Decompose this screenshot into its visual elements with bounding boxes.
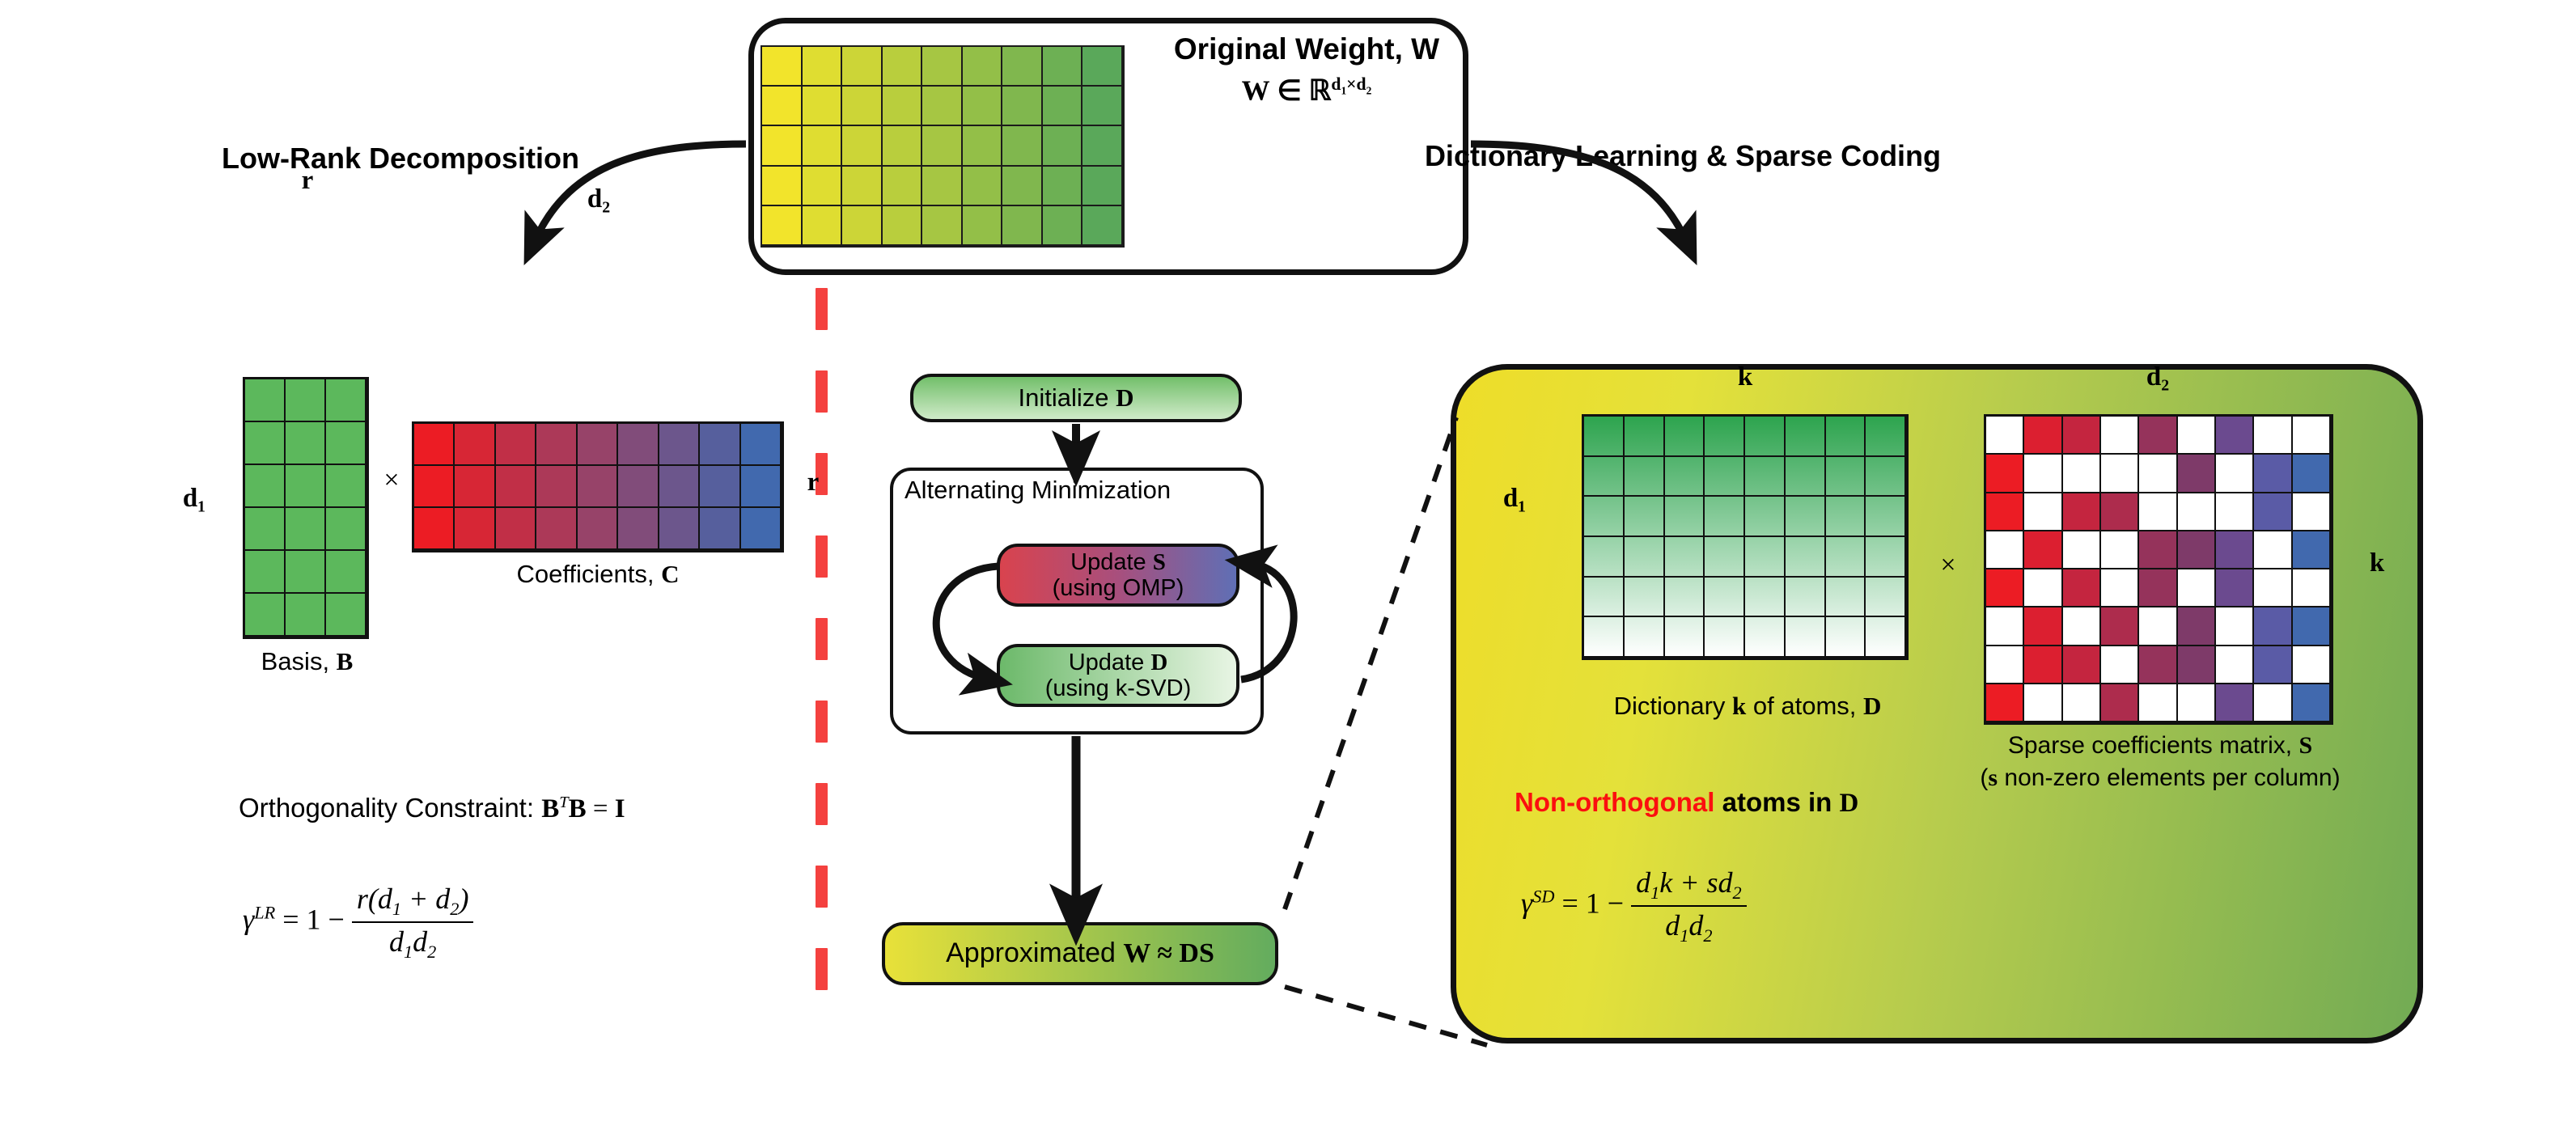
sparse-caption-line1: Sparse coefficients matrix, S: [1958, 732, 2362, 760]
sparse-cell-zero: [1986, 531, 2024, 569]
dictionary-cell: [1584, 497, 1625, 537]
sparse-cell-nonzero: [2024, 646, 2062, 684]
dictionary-cell: [1584, 578, 1625, 618]
dictionary-cell: [1786, 417, 1826, 457]
basis-cell: [326, 465, 366, 508]
alternating-minimization-label: Alternating Minimization: [905, 476, 1252, 505]
dictionary-cell: [1705, 497, 1745, 537]
dictionary-cell: [1826, 417, 1866, 457]
sparse-cell-zero: [2254, 569, 2292, 607]
sparse-cell-zero: [2216, 607, 2254, 646]
weight-cell: [963, 47, 1003, 87]
weight-cell: [883, 126, 923, 166]
sparse-cell-nonzero: [2063, 569, 2101, 607]
sparse-cell-nonzero: [1986, 455, 2024, 493]
weight-cell: [963, 206, 1003, 246]
coefficients-cell: [618, 424, 659, 466]
sparse-caption-line2: (s non-zero elements per column): [1950, 764, 2371, 792]
sparse-cell-nonzero: [2178, 531, 2216, 569]
divider-dash: [816, 866, 828, 908]
weight-cell: [883, 87, 923, 126]
sparse-cell-nonzero: [2139, 569, 2177, 607]
sparse-cell-zero: [2293, 493, 2331, 531]
sparse-cell-nonzero: [2024, 531, 2062, 569]
coefficients-cell: [741, 466, 782, 508]
sparse-cell-zero: [2293, 569, 2331, 607]
basis-cell: [286, 551, 326, 594]
sparse-cell-nonzero: [2139, 417, 2177, 455]
dictionary-cell: [1866, 497, 1906, 537]
sparse-cell-nonzero: [2254, 455, 2292, 493]
dictionary-cell: [1665, 497, 1705, 537]
dictionary-cell: [1866, 417, 1906, 457]
weight-cell: [1043, 206, 1083, 246]
coefficients-cell: [659, 424, 700, 466]
basis-rank-label: r: [275, 166, 340, 196]
orthogonality-constraint: Orthogonality Constraint: BTB = I: [239, 793, 625, 824]
dictionary-matrix: [1582, 414, 1909, 660]
sparse-cell-zero: [2063, 684, 2101, 722]
weight-cell: [1083, 206, 1123, 246]
section-divider: [816, 288, 828, 1029]
basis-rows-label: d₁: [162, 484, 227, 514]
multiply-symbol-low-rank: ×: [374, 465, 409, 496]
sparse-cell-nonzero: [2216, 569, 2254, 607]
weight-cell: [762, 126, 803, 166]
original-weight-label: Original Weight, W: [1157, 32, 1456, 66]
dictionary-cell: [1665, 457, 1705, 497]
divider-dash: [816, 701, 828, 743]
weight-cell: [762, 206, 803, 246]
dictionary-cell: [1705, 537, 1745, 578]
weight-cell: [922, 47, 963, 87]
coefficients-cell: [536, 508, 577, 550]
sparse-cell-zero: [2101, 417, 2139, 455]
multiply-symbol-dictionary: ×: [1930, 550, 1967, 581]
weight-cell: [963, 87, 1003, 126]
weight-cell: [842, 87, 883, 126]
basis-cell: [245, 508, 286, 551]
sparse-cell-zero: [2139, 493, 2177, 531]
weight-cell: [803, 87, 843, 126]
weight-cell: [842, 167, 883, 206]
sparse-cell-nonzero: [1986, 493, 2024, 531]
dictionary-cell: [1625, 497, 1665, 537]
dictionary-cell: [1786, 457, 1826, 497]
weight-cell: [963, 126, 1003, 166]
basis-cell: [326, 379, 366, 422]
weight-cell: [842, 47, 883, 87]
dictionary-cell: [1745, 617, 1786, 658]
dictionary-cell: [1786, 537, 1826, 578]
dictionary-cell: [1866, 578, 1906, 618]
weight-cell: [922, 206, 963, 246]
sparse-cell-zero: [2063, 531, 2101, 569]
coefficients-cell: [578, 466, 618, 508]
sparse-cell-zero: [2024, 455, 2062, 493]
dictionary-cell: [1625, 457, 1665, 497]
dictionary-cell: [1584, 457, 1625, 497]
coefficients-cell: [455, 424, 495, 466]
dictionary-cell: [1705, 578, 1745, 618]
weight-cell: [762, 87, 803, 126]
sparse-cell-nonzero: [2178, 455, 2216, 493]
sparse-cell-nonzero: [2293, 607, 2331, 646]
sparse-cell-zero: [2101, 569, 2139, 607]
sparse-cell-nonzero: [2293, 684, 2331, 722]
sparse-cell-zero: [2254, 531, 2292, 569]
sparse-cell-zero: [2024, 684, 2062, 722]
coefficients-cell: [741, 508, 782, 550]
sparse-cell-zero: [2139, 607, 2177, 646]
sparse-cell-zero: [2178, 569, 2216, 607]
dictionary-cell: [1625, 417, 1665, 457]
sparse-cell-zero: [1986, 646, 2024, 684]
sparse-cell-nonzero: [2063, 646, 2101, 684]
original-weight-formula: W ∈ ℝd1×d2: [1157, 74, 1456, 108]
node-initialize-d-label: Initialize D: [1019, 384, 1134, 413]
dictionary-cell: [1786, 497, 1826, 537]
basis-cell: [245, 594, 286, 637]
non-orthogonal-highlight: Non-orthogonal: [1515, 787, 1714, 817]
coefficients-cols-label: d₂: [566, 184, 631, 214]
coefficients-cell: [659, 466, 700, 508]
coefficients-cell: [536, 424, 577, 466]
dictionary-cell: [1745, 497, 1786, 537]
low-rank-section-title: Low-Rank Decomposition: [81, 142, 720, 176]
weight-cell: [1083, 87, 1123, 126]
weight-cell: [803, 126, 843, 166]
weight-cell: [1083, 47, 1123, 87]
sparse-cell-nonzero: [2063, 417, 2101, 455]
basis-cell: [245, 551, 286, 594]
non-orthogonal-note: Non-orthogonal atoms in D: [1515, 787, 1858, 819]
sparse-cell-zero: [2101, 646, 2139, 684]
coefficients-cell: [455, 508, 495, 550]
sparse-cell-nonzero: [2063, 493, 2101, 531]
dictionary-cell: [1826, 578, 1866, 618]
sparse-cell-nonzero: [2139, 531, 2177, 569]
dictionary-cell: [1866, 457, 1906, 497]
dictionary-cell: [1826, 617, 1866, 658]
coefficients-cell: [414, 424, 455, 466]
dictionary-cell: [1705, 457, 1745, 497]
basis-cell: [326, 594, 366, 637]
node-approximated-w[interactable]: Approximated W ≈ DS: [882, 922, 1278, 985]
sparse-cell-zero: [2139, 455, 2177, 493]
dictionary-cell: [1625, 617, 1665, 658]
dictionary-cell: [1665, 537, 1705, 578]
dashed-connector-top: [1285, 417, 1456, 909]
sparse-cell-nonzero: [2293, 455, 2331, 493]
weight-cell: [803, 206, 843, 246]
sparse-cell-nonzero: [2101, 607, 2139, 646]
gamma-lr-formula: γLR = 1 − r(d1 + d2)d1d2: [243, 882, 473, 963]
dictionary-caption: Dictionary k of atoms, D: [1537, 692, 1958, 721]
basis-cell: [286, 594, 326, 637]
dictionary-cell: [1745, 417, 1786, 457]
coefficients-cell: [496, 424, 536, 466]
sparse-cell-zero: [1986, 417, 2024, 455]
sparse-cell-zero: [1986, 607, 2024, 646]
basis-cell: [326, 551, 366, 594]
sparse-coefficients-matrix: [1984, 414, 2333, 725]
sparse-cell-nonzero: [2293, 531, 2331, 569]
weight-cell: [1043, 126, 1083, 166]
basis-cell: [286, 465, 326, 508]
weight-cell: [883, 206, 923, 246]
sparse-cell-nonzero: [2178, 607, 2216, 646]
weight-cell: [842, 126, 883, 166]
sparse-cell-nonzero: [2101, 493, 2139, 531]
coefficients-cell: [414, 508, 455, 550]
dictionary-cell: [1826, 537, 1866, 578]
weight-cell: [883, 47, 923, 87]
basis-cell: [286, 422, 326, 465]
original-weight-matrix: [761, 45, 1125, 248]
dictionary-cell: [1665, 578, 1705, 618]
sparse-cell-zero: [2178, 684, 2216, 722]
coefficients-cell: [618, 508, 659, 550]
weight-cell: [1002, 87, 1043, 126]
weight-cell: [1043, 87, 1083, 126]
coefficients-cell: [578, 508, 618, 550]
sparse-cell-nonzero: [2024, 607, 2062, 646]
basis-cell: [326, 422, 366, 465]
dictionary-cell: [1584, 537, 1625, 578]
weight-cell: [1002, 126, 1043, 166]
dictionary-cell: [1826, 497, 1866, 537]
sparse-cell-zero: [2024, 493, 2062, 531]
weight-cell: [803, 47, 843, 87]
weight-cell: [922, 167, 963, 206]
gamma-sd-formula: γSD = 1 − d1k + sd2d1d2: [1521, 866, 1747, 946]
weight-cell: [1002, 167, 1043, 206]
coefficients-cell: [496, 508, 536, 550]
basis-cell: [245, 379, 286, 422]
sparse-cell-zero: [2101, 455, 2139, 493]
dictionary-cell: [1625, 578, 1665, 618]
basis-cell: [326, 508, 366, 551]
basis-matrix: [243, 377, 369, 639]
sparse-cell-zero: [2293, 417, 2331, 455]
dictionary-cols-label: k: [1688, 362, 1802, 392]
sparse-cell-nonzero: [2254, 607, 2292, 646]
coefficients-cell: [700, 424, 740, 466]
node-update-s[interactable]: Update S(using OMP): [997, 544, 1239, 607]
sparse-cell-nonzero: [2254, 493, 2292, 531]
dictionary-cell: [1745, 537, 1786, 578]
coefficients-matrix: [412, 421, 784, 552]
dictionary-cell: [1665, 417, 1705, 457]
dictionary-section-title: Dictionary Learning & Sparse Coding: [1278, 139, 2087, 173]
weight-cell: [1043, 47, 1083, 87]
coefficients-cell: [700, 508, 740, 550]
basis-caption: Basis, B: [212, 647, 402, 676]
sparse-cell-zero: [2254, 417, 2292, 455]
divider-dash: [816, 370, 828, 413]
sparse-cell-nonzero: [2254, 646, 2292, 684]
non-orthogonal-rest: atoms in D: [1714, 787, 1858, 817]
sparse-cell-zero: [2216, 646, 2254, 684]
dictionary-cell: [1745, 578, 1786, 618]
dictionary-rows-label: d₁: [1482, 484, 1547, 514]
weight-cell: [1043, 167, 1083, 206]
basis-cell: [245, 465, 286, 508]
dictionary-cell: [1786, 578, 1826, 618]
coefficients-cell: [578, 424, 618, 466]
sparse-cell-zero: [2216, 493, 2254, 531]
node-update-d-label: Update D(using k-SVD): [1045, 650, 1192, 702]
weight-cell: [762, 47, 803, 87]
divider-dash: [816, 288, 828, 330]
sparse-cell-zero: [2063, 455, 2101, 493]
dictionary-cell: [1584, 617, 1625, 658]
coefficients-cell: [659, 508, 700, 550]
dictionary-cell: [1584, 417, 1625, 457]
sparse-cell-nonzero: [2024, 417, 2062, 455]
sparse-cell-zero: [2024, 569, 2062, 607]
sparse-rows-label: k: [2349, 548, 2405, 578]
sparse-cell-zero: [2216, 455, 2254, 493]
weight-cell: [922, 126, 963, 166]
sparse-cell-nonzero: [1986, 569, 2024, 607]
sparse-cell-zero: [2178, 493, 2216, 531]
sparse-cell-zero: [2293, 646, 2331, 684]
sparse-cell-zero: [2254, 684, 2292, 722]
dictionary-cell: [1786, 617, 1826, 658]
coefficients-cell: [741, 424, 782, 466]
coefficients-rank-label: r: [789, 468, 837, 497]
weight-cell: [842, 206, 883, 246]
weight-cell: [762, 167, 803, 206]
coefficients-cell: [618, 466, 659, 508]
coefficients-cell: [700, 466, 740, 508]
weight-cell: [1002, 206, 1043, 246]
sparse-cell-nonzero: [2178, 646, 2216, 684]
node-approximated-w-label: Approximated W ≈ DS: [946, 938, 1214, 969]
weight-cell: [883, 167, 923, 206]
divider-dash: [816, 948, 828, 990]
weight-cell: [803, 167, 843, 206]
coefficients-cell: [414, 466, 455, 508]
node-update-s-label: Update S(using OMP): [1053, 549, 1184, 602]
dictionary-cell: [1745, 457, 1786, 497]
dictionary-cell: [1866, 617, 1906, 658]
sparse-cell-nonzero: [2216, 417, 2254, 455]
sparse-cell-nonzero: [2216, 684, 2254, 722]
weight-cell: [1083, 167, 1123, 206]
divider-dash: [816, 618, 828, 660]
weight-cell: [1002, 47, 1043, 87]
weight-cell: [963, 167, 1003, 206]
basis-cell: [286, 508, 326, 551]
sparse-cell-zero: [2178, 417, 2216, 455]
sparse-cell-nonzero: [2216, 531, 2254, 569]
weight-cell: [922, 87, 963, 126]
sparse-cell-nonzero: [2139, 646, 2177, 684]
sparse-cell-nonzero: [2101, 684, 2139, 722]
coefficients-cell: [496, 466, 536, 508]
sparse-cell-zero: [2139, 684, 2177, 722]
node-update-d[interactable]: Update D(using k-SVD): [997, 644, 1239, 707]
dictionary-cell: [1866, 537, 1906, 578]
coefficients-cell: [455, 466, 495, 508]
sparse-cols-label: d₂: [2101, 362, 2214, 392]
dictionary-cell: [1625, 537, 1665, 578]
dictionary-cell: [1705, 617, 1745, 658]
weight-cell: [1083, 126, 1123, 166]
coefficients-cell: [536, 466, 577, 508]
dictionary-cell: [1826, 457, 1866, 497]
sparse-cell-nonzero: [1986, 684, 2024, 722]
sparse-cell-zero: [2063, 607, 2101, 646]
sparse-cell-zero: [2101, 531, 2139, 569]
dictionary-cell: [1705, 417, 1745, 457]
basis-cell: [286, 379, 326, 422]
coefficients-caption: Coefficients, C: [412, 560, 784, 589]
divider-dash: [816, 535, 828, 578]
dictionary-cell: [1665, 617, 1705, 658]
node-initialize-d[interactable]: Initialize D: [910, 374, 1242, 422]
basis-cell: [245, 422, 286, 465]
divider-dash: [816, 783, 828, 825]
